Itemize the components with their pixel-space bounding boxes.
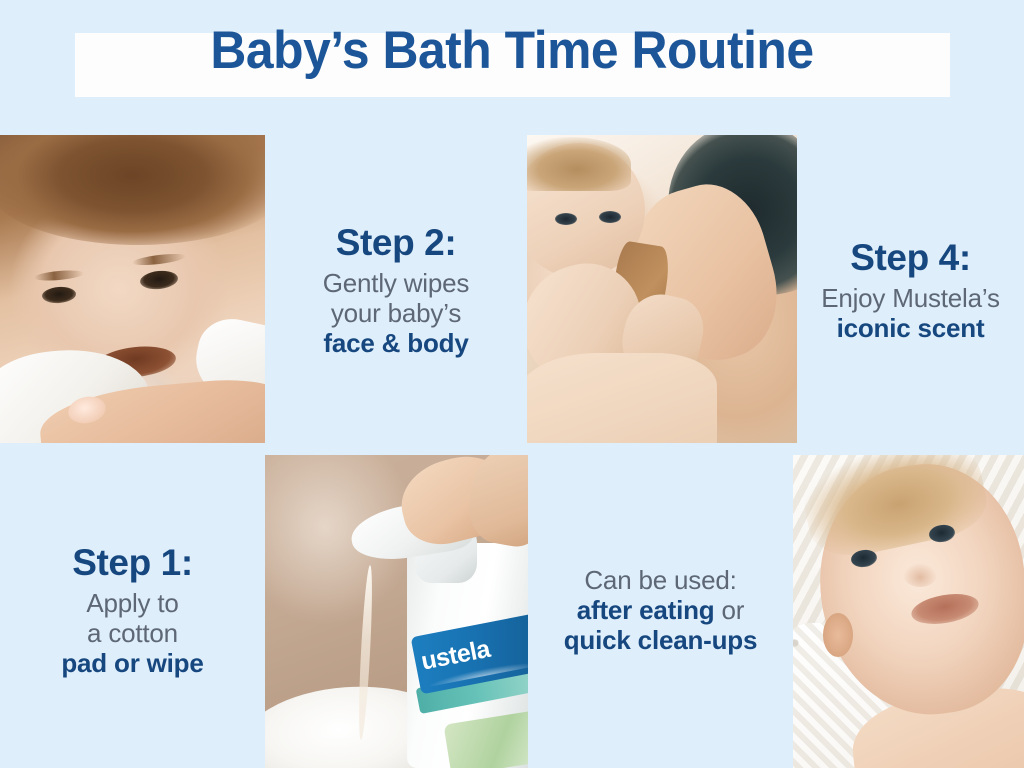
usage-intro: Can be used: (584, 565, 736, 595)
baby-ear-shape (823, 613, 853, 657)
baby-nose-shape (903, 563, 937, 587)
baby-hair-shape (527, 137, 631, 191)
photo-mother-kissing-baby (527, 135, 797, 443)
step-2-heading: Step 2: (336, 222, 457, 265)
step-4-line-1: Enjoy Mustela’s (821, 283, 1000, 313)
step-2-line-2: your baby’s (331, 298, 461, 328)
step-1-emphasis: pad or wipe (61, 648, 203, 678)
usage-conjunction: or (715, 595, 745, 625)
infographic-root: Baby’s Bath Time Routine Step 2: Gently … (0, 0, 1024, 768)
photo-smiling-baby-blanket-content (793, 455, 1024, 768)
baby-left-eye-shape (555, 213, 577, 225)
text-block-step-1: Step 1: Apply to a cotton pad or wipe (0, 470, 265, 750)
step-2-emphasis: face & body (323, 328, 468, 358)
photo-baby-face-wipe-content (0, 135, 265, 443)
usage-option-two: quick clean-ups (564, 625, 758, 655)
step-1-line-1: Apply to (86, 588, 178, 618)
photo-mustela-bottle-pad-content: ustela (265, 455, 528, 768)
photo-smiling-baby-blanket (793, 455, 1024, 768)
baby-body-shape (527, 353, 717, 443)
text-block-step-2: Step 2: Gently wipes your baby’s face & … (265, 150, 527, 430)
step-2-line-1: Gently wipes (323, 268, 469, 298)
step-4-heading: Step 4: (850, 237, 971, 280)
photo-mustela-bottle-pad: ustela (265, 455, 528, 768)
photo-baby-face-wipe (0, 135, 265, 443)
step-1-line-2: a cotton (87, 618, 178, 648)
text-block-step-4: Step 4: Enjoy Mustela’s iconic scent (797, 150, 1024, 430)
usage-option-one-bold: after eating (577, 595, 715, 625)
page-title: Baby’s Bath Time Routine (31, 22, 994, 80)
step-4-emphasis: iconic scent (837, 313, 985, 343)
text-block-usage: Can be used: after eating or quick clean… (528, 470, 793, 750)
photo-mother-kissing-baby-content (527, 135, 797, 443)
baby-hair-shape (0, 135, 265, 245)
step-1-heading: Step 1: (72, 542, 193, 585)
baby-right-eye-shape (599, 211, 621, 223)
usage-option-one: after eating or (577, 595, 745, 625)
